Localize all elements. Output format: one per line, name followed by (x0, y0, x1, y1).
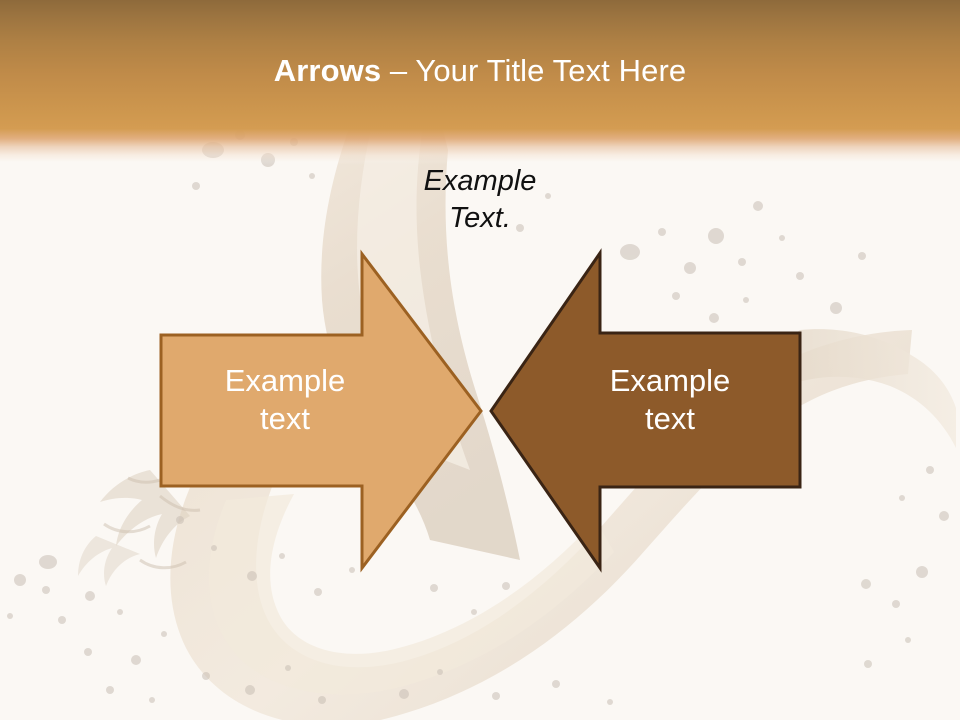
arrow-right-shape[interactable] (491, 253, 800, 568)
arrows-group (0, 0, 960, 720)
arrow-left-shape[interactable] (161, 254, 481, 568)
slide-canvas: Arrows – Your Title Text Here Example Te… (0, 0, 960, 720)
